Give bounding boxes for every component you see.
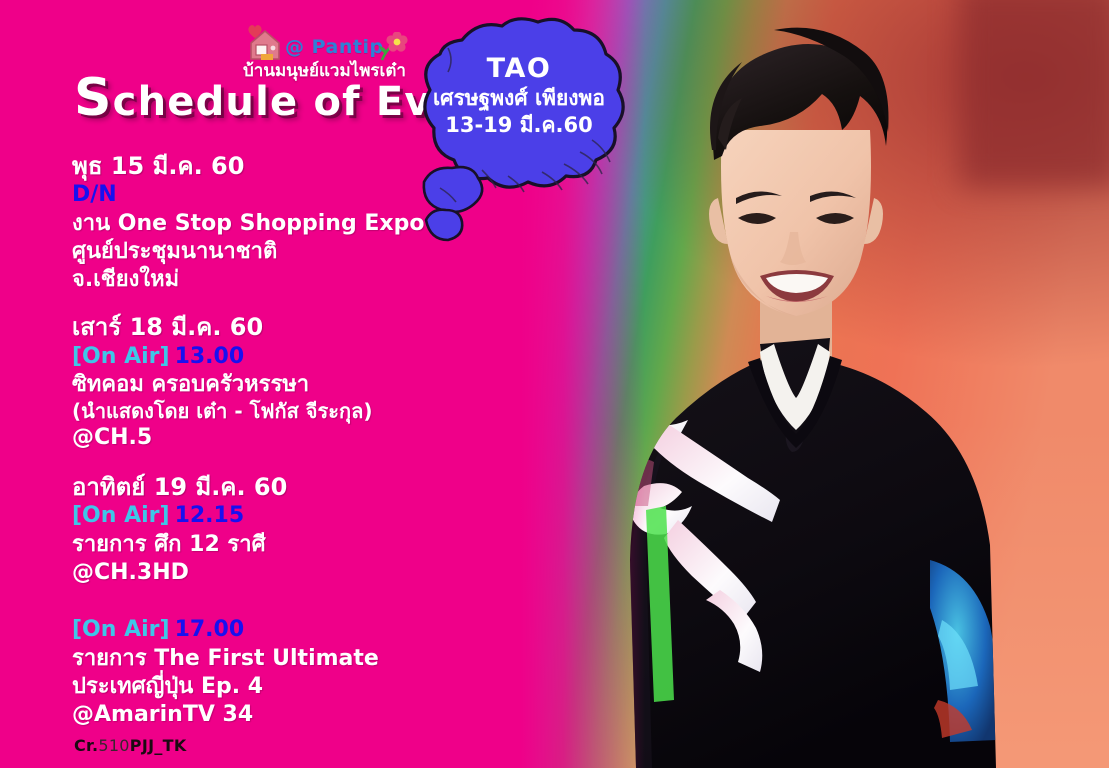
- on-air-tag: [On Air]: [72, 344, 170, 369]
- on-air-tag: [On Air]: [72, 617, 170, 642]
- credit-prefix: Cr.: [74, 736, 98, 755]
- event-item: อาทิตย์ 19 มี.ค. 60 [On Air]12.15 รายการ…: [72, 473, 472, 587]
- event-item: [On Air]17.00 รายการ The First Ultimate …: [72, 617, 472, 729]
- title-capital: S: [74, 68, 113, 128]
- left-content: @ Pantip บ้านมนุษย์แวมไพรเต๋า Schedule o…: [0, 0, 470, 768]
- event-line: ประเทศญี่ปุ่น Ep. 4: [72, 673, 472, 701]
- event-line: จ.เชียงใหม่: [72, 266, 472, 294]
- credit-text: Cr.510PJJ_TK: [74, 736, 187, 755]
- event-airtime: [On Air]17.00: [72, 617, 472, 644]
- on-air-tag: [On Air]: [72, 503, 170, 528]
- credit-handle: PJJ_TK: [130, 736, 187, 755]
- event-channel: @CH.3HD: [72, 559, 472, 588]
- thought-bubble: TAO เศรษฐพงศ์ เพียงพอ 13-19 มี.ค.60: [404, 12, 634, 247]
- heart-icon: [247, 24, 263, 39]
- pantip-brand-text: @ Pantip: [285, 36, 384, 58]
- on-air-time: 17.00: [175, 617, 245, 642]
- event-date: เสาร์ 18 มี.ค. 60: [72, 313, 472, 341]
- event-line: รายการ ศึก 12 ราศี: [72, 531, 472, 559]
- event-airtime: [On Air]13.00: [72, 344, 472, 371]
- event-line: ซิทคอม ครอบครัวหรรษา: [72, 371, 472, 399]
- event-item: เสาร์ 18 มี.ค. 60 [On Air]13.00 ซิทคอม ค…: [72, 313, 472, 453]
- event-line: รายการ The First Ultimate: [72, 645, 472, 673]
- event-line: (นำแสดงโดย เต๋า - โฟกัส จีระกุล): [72, 399, 472, 424]
- event-channel: @CH.5: [72, 424, 472, 453]
- credit-number: 510: [98, 736, 129, 755]
- on-air-time: 12.15: [175, 503, 245, 528]
- event-channel: @AmarinTV 34: [72, 701, 472, 730]
- event-airtime: [On Air]12.15: [72, 503, 472, 530]
- poster-canvas: @ Pantip บ้านมนุษย์แวมไพรเต๋า Schedule o…: [0, 0, 1109, 768]
- on-air-time: 13.00: [175, 344, 245, 369]
- event-date: อาทิตย์ 19 มี.ค. 60: [72, 473, 472, 501]
